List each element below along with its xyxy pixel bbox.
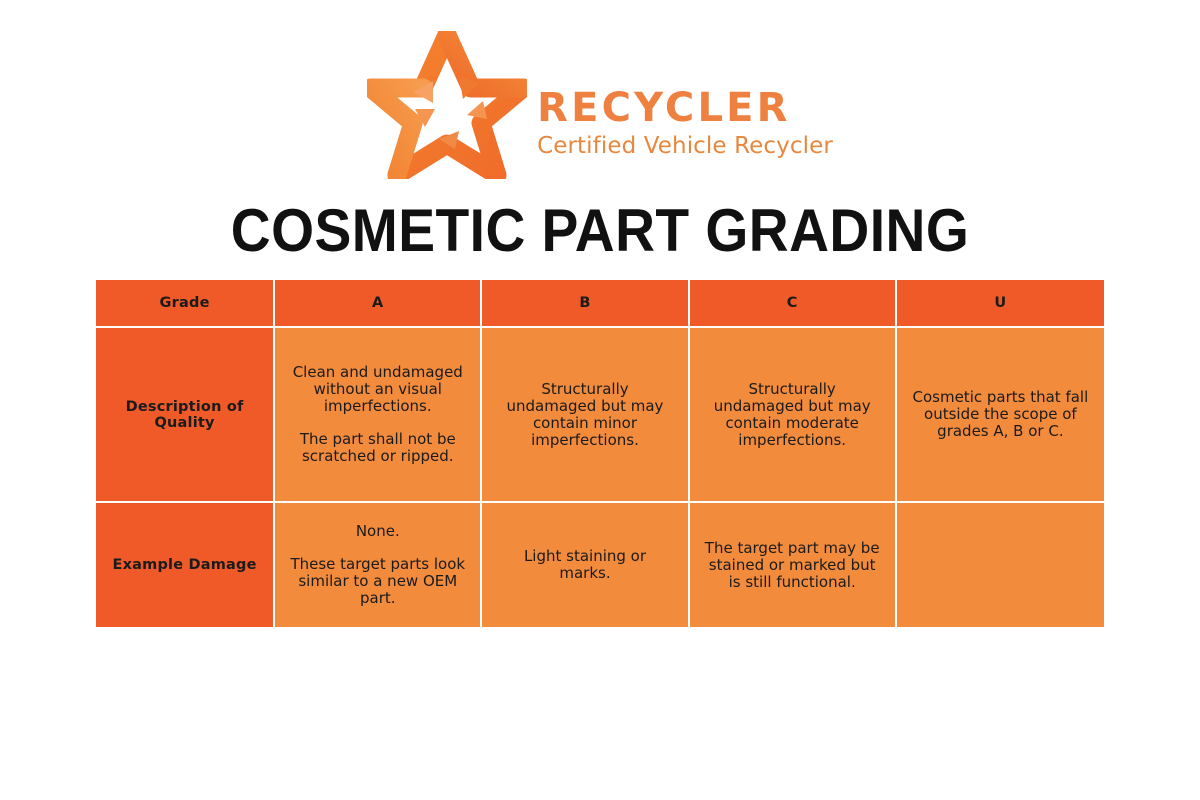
row-header-description-of-quality: Description of Quality (96, 328, 275, 503)
cell-paragraph: None. (289, 523, 466, 540)
cell-paragraph: The part shall not be scratched or rippe… (289, 431, 466, 465)
column-header-grade: Grade (96, 280, 275, 328)
cell-description-a: Clean and undamaged without an visual im… (275, 328, 482, 503)
cell-paragraph: Structurally undamaged but may contain m… (704, 381, 881, 449)
table-row: Example Damage None.These target parts l… (96, 503, 1104, 627)
page-title: COSMETIC PART GRADING (48, 196, 1152, 266)
cell-example-u (897, 503, 1104, 627)
row-header-example-damage: Example Damage (96, 503, 275, 627)
column-header-a: A (275, 280, 482, 328)
cell-description-c: Structurally undamaged but may contain m… (690, 328, 897, 503)
cell-paragraph: These target parts look similar to a new… (289, 556, 466, 607)
cell-description-b: Structurally undamaged but may contain m… (482, 328, 689, 503)
table-body: Description of Quality Clean and undamag… (96, 328, 1104, 627)
table-row: Description of Quality Clean and undamag… (96, 328, 1104, 503)
logo-wordmark: RECYCLER Certified Vehicle Recycler (537, 47, 833, 164)
cell-paragraph: Structurally undamaged but may contain m… (496, 381, 673, 449)
cell-paragraph: Cosmetic parts that fall outside the sco… (911, 389, 1090, 440)
cell-paragraph: The target part may be stained or marked… (704, 540, 881, 591)
column-header-c: C (690, 280, 897, 328)
logo-inner: RECYCLER Certified Vehicle Recycler (367, 31, 833, 179)
logo-tagline: Certified Vehicle Recycler (537, 129, 833, 164)
cell-paragraph: Light staining or marks. (496, 548, 673, 582)
logo-name: RECYCLER (537, 87, 833, 129)
grading-chart-page: RECYCLER Certified Vehicle Recycler COSM… (0, 0, 1200, 800)
cell-description-u: Cosmetic parts that fall outside the sco… (897, 328, 1104, 503)
cell-paragraph: Clean and undamaged without an visual im… (289, 364, 466, 415)
cell-example-b: Light staining or marks. (482, 503, 689, 627)
recycling-star-icon (367, 31, 527, 179)
cell-example-a: None.These target parts look similar to … (275, 503, 482, 627)
table-header-row: Grade A B C U (96, 280, 1104, 328)
column-header-b: B (482, 280, 689, 328)
cosmetic-part-grading-table: Grade A B C U Description of Quality Cle… (96, 280, 1104, 627)
cell-example-c: The target part may be stained or marked… (690, 503, 897, 627)
table-header: Grade A B C U (96, 280, 1104, 328)
brand-logo: RECYCLER Certified Vehicle Recycler (0, 30, 1200, 180)
column-header-u: U (897, 280, 1104, 328)
